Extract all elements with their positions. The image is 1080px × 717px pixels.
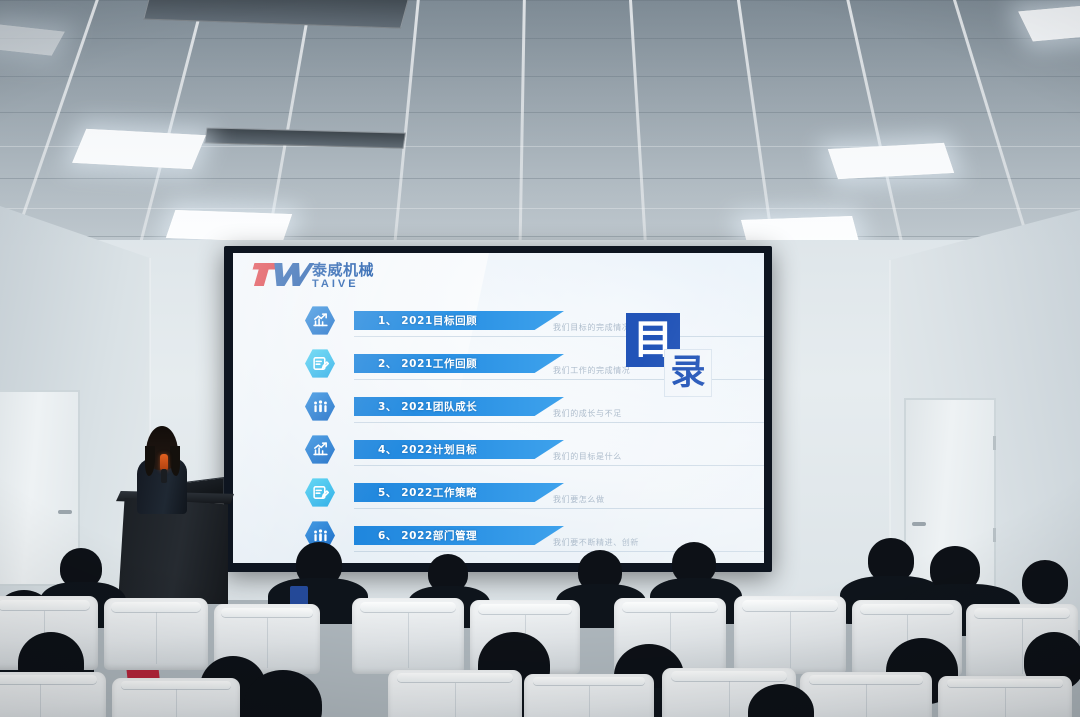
agenda-item: 2、 2021工作回顾 我们工作的完成情况 (305, 342, 665, 385)
agenda-label-5: 5、 2022工作策略 (354, 485, 477, 500)
agenda-subtitle-3: 我们的成长与不足 (553, 408, 622, 419)
conference-room-photo: 泰威机械 TAIVE (0, 0, 1080, 717)
chair (104, 598, 208, 670)
presentation-slide: 泰威机械 TAIVE (233, 253, 764, 563)
agenda-label-2: 2、 2021工作回顾 (354, 356, 477, 371)
ceiling-grid (0, 0, 1080, 262)
agenda-icon-4 (305, 435, 335, 465)
agenda-subtitle-4: 我们的目标是什么 (553, 451, 622, 462)
slide-title-mark: 目 录 (626, 313, 712, 399)
chair (112, 678, 240, 717)
agenda-item: 5、 2022工作策略 我们要怎么做 (305, 471, 665, 514)
agenda-bar-1[interactable]: 1、 2021目标回顾 (354, 311, 564, 330)
slide-agenda-list: 1、 2021目标回顾 我们目标的完成情况 (305, 299, 665, 557)
ceiling (0, 0, 1080, 262)
agenda-icon-5 (305, 478, 335, 508)
chart-growth-icon (305, 435, 335, 465)
audience-area (0, 520, 1080, 717)
ceiling-light (828, 143, 954, 179)
agenda-icon-3 (305, 392, 335, 422)
agenda-item: 3、 2021团队成长 我们的成长与不足 (305, 385, 665, 428)
agenda-subtitle-1: 我们目标的完成情况 (553, 322, 630, 333)
agenda-label-4: 4、 2022计划目标 (354, 442, 477, 457)
presenter (131, 424, 193, 512)
agenda-bar-4[interactable]: 4、 2022计划目标 (354, 440, 564, 459)
chair (388, 670, 522, 717)
chair (352, 598, 464, 674)
agenda-bar-2[interactable]: 2、 2021工作回顾 (354, 354, 564, 373)
chart-growth-icon (305, 306, 335, 336)
logo-mark-icon (251, 262, 309, 288)
agenda-item: 4、 2022计划目标 我们的目标是什么 (305, 428, 665, 471)
agenda-subtitle-5: 我们要怎么做 (553, 494, 605, 505)
chair (734, 596, 846, 674)
chair (938, 676, 1072, 717)
chair (800, 672, 932, 717)
ceiling-light (166, 210, 292, 242)
people-group-icon (305, 392, 335, 422)
chair (524, 674, 654, 717)
clipboard-edit-icon (305, 349, 335, 379)
agenda-label-1: 1、 2021目标回顾 (354, 313, 477, 328)
title-char-lu: 录 (664, 349, 712, 397)
logo-name-en: TAIVE (312, 279, 374, 290)
door-hinge-icon (993, 436, 996, 450)
chair (0, 672, 106, 717)
company-logo: 泰威机械 TAIVE (251, 262, 374, 290)
agenda-bar-3[interactable]: 3、 2021团队成长 (354, 397, 564, 416)
agenda-subtitle-2: 我们工作的完成情况 (553, 365, 630, 376)
ceiling-light (72, 129, 206, 169)
agenda-icon-2 (305, 349, 335, 379)
agenda-label-3: 3、 2021团队成长 (354, 399, 477, 414)
agenda-item: 1、 2021目标回顾 我们目标的完成情况 (305, 299, 665, 342)
agenda-icon-1 (305, 306, 335, 336)
logo-name-cn: 泰威机械 (312, 263, 374, 278)
clipboard-edit-icon (305, 478, 335, 508)
agenda-bar-5[interactable]: 5、 2022工作策略 (354, 483, 564, 502)
attendee-head (1022, 560, 1068, 604)
door-handle-icon (58, 510, 72, 514)
